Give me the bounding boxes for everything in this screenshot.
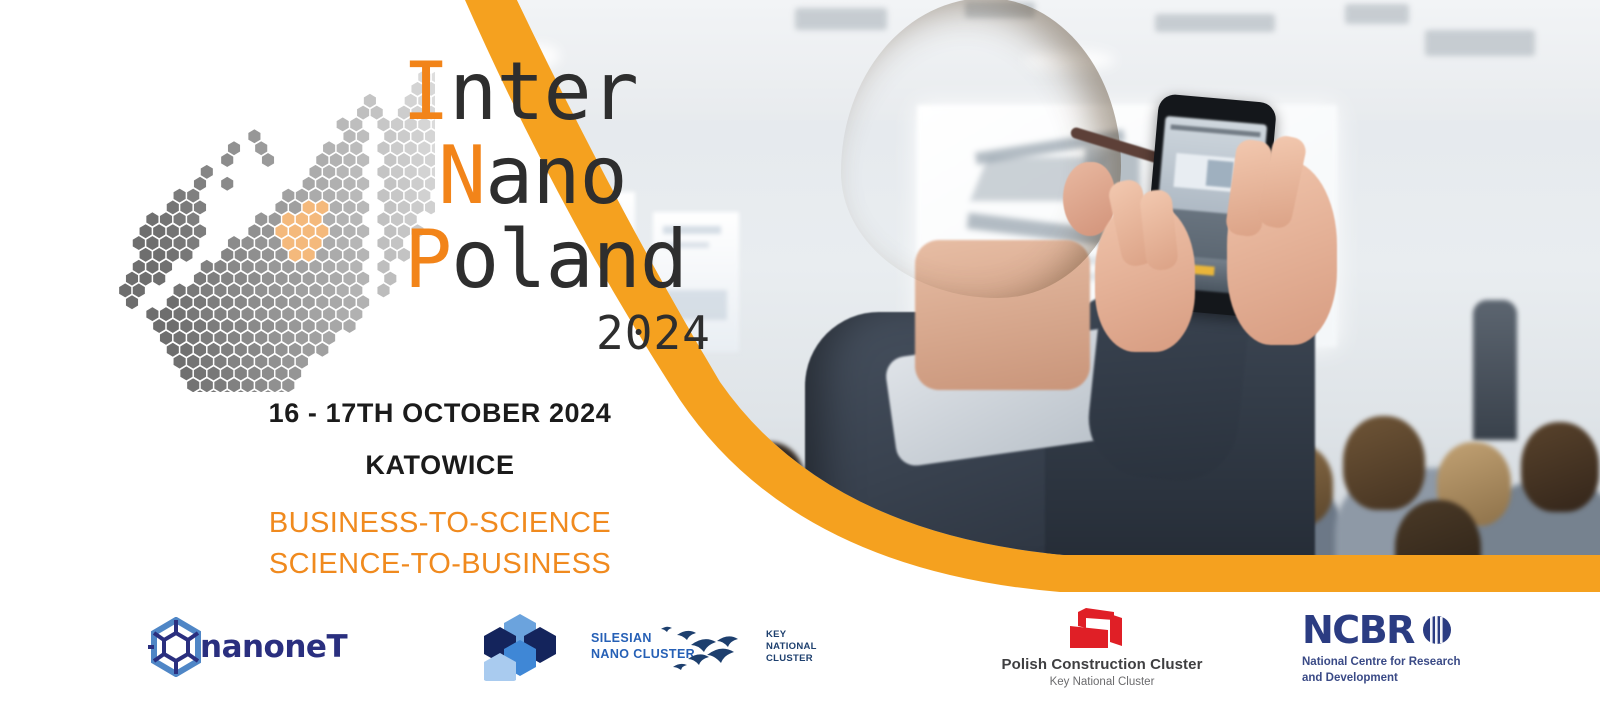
ncbr-subtitle: National Centre for Research and Develop… [1302, 655, 1461, 687]
internanopoland-wordmark: Inter Nano Poland 2024 [398, 52, 738, 362]
partner-logo-ncbr[interactable]: NCBR National Centre for Research and De… [1302, 592, 1552, 702]
partner-logo-polish-construction-cluster[interactable]: Polish Construction Cluster Key National… [962, 592, 1242, 702]
wordmark-year: 2024 [596, 310, 711, 356]
event-date: 16 - 17TH OCTOBER 2024 [0, 398, 880, 429]
partner-logo-bar: nanoneT SILESIAN NANO CLUSTER [0, 592, 1600, 702]
wordmark-line-poland: Poland [404, 220, 687, 300]
head-and-hair [841, 0, 1121, 298]
event-tagline: BUSINESS-TO-SCIENCE SCIENCE-TO-BUSINESS [0, 503, 880, 585]
partner-logo-nanonet[interactable]: nanoneT [148, 592, 388, 702]
wordmark-line-inter: Inter [402, 52, 638, 132]
event-details: 16 - 17TH OCTOBER 2024 KATOWICE BUSINESS… [0, 398, 880, 585]
ncbr-line-2: and Development [1302, 671, 1461, 687]
pcc-line-1: Polish Construction Cluster [1001, 656, 1202, 673]
striped-circle-icon [1422, 615, 1452, 645]
partner-logo-key-national-cluster[interactable]: KEY NATIONAL CLUSTER [655, 592, 865, 702]
event-city: KATOWICE [0, 450, 880, 481]
knc-line-2: NATIONAL [766, 641, 817, 653]
left-content-panel: Inter Nano Poland 2024 16 - 17TH OCTOBER… [0, 0, 780, 592]
hexagon-map-of-europe-icon [105, 22, 435, 392]
knc-text-block: KEY NATIONAL CLUSTER [766, 629, 817, 665]
hexagon-cluster-icon [482, 613, 587, 681]
knc-line-3: CLUSTER [766, 653, 817, 665]
wordmark-line-nano: Nano [438, 136, 627, 216]
pcc-line-2: Key National Cluster [1050, 676, 1155, 688]
flying-birds-icon [655, 619, 760, 675]
nanonet-wordmark: nanoneT [200, 629, 347, 665]
hexagon-network-icon [148, 617, 204, 677]
tagline-line-1: BUSINESS-TO-SCIENCE [0, 503, 880, 544]
ncbr-wordmark: NCBR [1302, 608, 1414, 652]
ncbr-top-row: NCBR [1302, 608, 1452, 652]
ncbr-line-1: National Centre for Research [1302, 655, 1461, 671]
knc-line-1: KEY [766, 629, 817, 641]
tagline-line-2: SCIENCE-TO-BUSINESS [0, 544, 880, 585]
red-building-icon [1066, 606, 1138, 650]
event-banner: Inter Nano Poland 2024 16 - 17TH OCTOBER… [0, 0, 1600, 702]
